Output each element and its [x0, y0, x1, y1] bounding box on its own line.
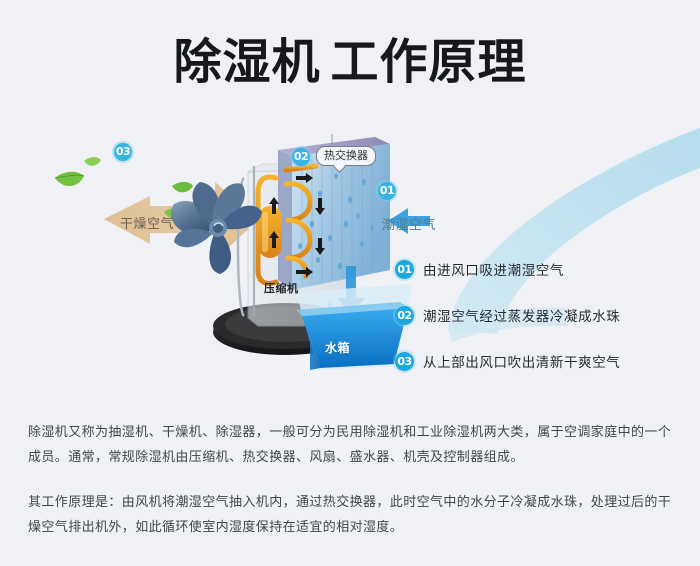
diagram-badge-03: 03	[114, 143, 132, 161]
legend-item-02: 02 潮湿空气经过蒸发器冷凝成水珠	[395, 304, 685, 326]
label-dry-air: 干燥空气	[120, 213, 174, 232]
label-humid-air: 潮湿空气	[382, 214, 436, 233]
callout-heat-exchanger: 热交换器	[316, 146, 376, 166]
paragraph-1: 除湿机又称为抽湿机、干燥机、除湿器，一般可分为民用除湿机和工业除湿机两大类，属于…	[28, 420, 676, 470]
legend-text-01: 由进风口吸进潮湿空气	[423, 259, 564, 279]
label-water-tank: 水箱	[325, 339, 350, 356]
legend-text-03: 从上部出风口吹出清新干爽空气	[423, 351, 620, 371]
label-compressor: 压缩机	[264, 280, 299, 296]
diagram-badge-01: 01	[378, 182, 396, 200]
title-part-2: 工作原理	[331, 34, 527, 90]
title-part-1: 除湿机	[173, 34, 320, 90]
legend-badge-02: 02	[395, 306, 414, 325]
water-tank	[302, 308, 408, 368]
diagram-badge-02: 02	[292, 148, 310, 166]
legend-badge-03: 03	[395, 352, 414, 371]
legend-item-01: 01 由进风口吸进潮湿空气	[395, 258, 685, 280]
legend-text-02: 潮湿空气经过蒸发器冷凝成水珠	[423, 305, 620, 325]
body-copy: 除湿机又称为抽湿机、干燥机、除湿器，一般可分为民用除湿机和工业除湿机两大类，属于…	[28, 420, 676, 540]
page-title: 除湿机工作原理	[0, 33, 700, 91]
infographic-page: 除湿机工作原理	[0, 0, 700, 566]
legend-badge-01: 01	[395, 260, 414, 279]
compressor-highlight	[262, 212, 268, 252]
legend-list: 01 由进风口吸进潮湿空气 02 潮湿空气经过蒸发器冷凝成水珠 03 从上部出风…	[395, 258, 685, 396]
legend-item-03: 03 从上部出风口吹出清新干爽空气	[395, 350, 685, 372]
paragraph-2: 其工作原理是：由风机将潮湿空气抽入机内，通过热交换器，此时空气中的水分子冷凝成水…	[28, 490, 676, 540]
